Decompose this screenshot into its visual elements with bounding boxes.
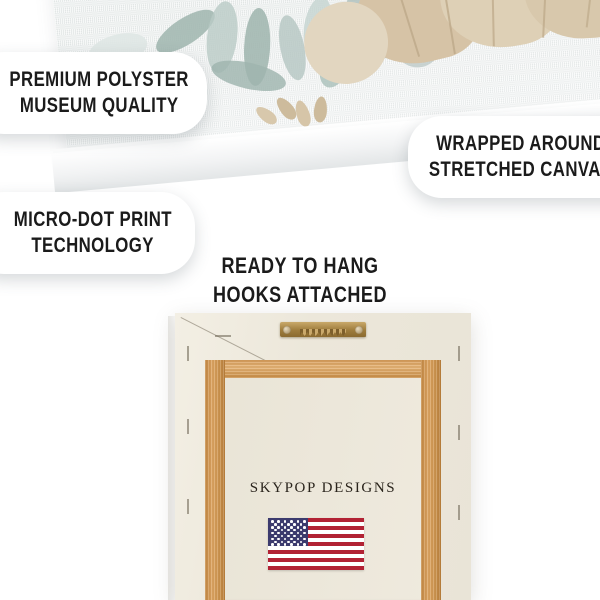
flag-star	[284, 538, 287, 541]
flag-star	[274, 523, 277, 526]
headline-line-1: READY TO HANG	[54, 252, 546, 281]
ready-to-hang-headline: READY TO HANG HOOKS ATTACHED	[0, 252, 600, 309]
badge-premium-polyster: PREMIUM POLYSTER MUSEUM QUALITY	[0, 52, 207, 134]
flag-star	[281, 523, 284, 526]
badge-wrapped-canvas: WRAPPED AROUND STRETCHED CANVAS	[408, 116, 600, 198]
flag-star	[271, 543, 274, 546]
flag-star	[290, 526, 293, 529]
hanger-screw	[283, 326, 291, 334]
stretcher-bar-top	[205, 360, 441, 378]
flag-star	[287, 529, 290, 532]
flag-star	[293, 529, 296, 532]
flag-star	[271, 520, 274, 523]
flag-star	[284, 526, 287, 529]
sawtooth-hanger-icon	[280, 322, 366, 337]
flag-star	[290, 543, 293, 546]
badge-line-2: STRETCHED CANVAS	[429, 157, 600, 183]
flag-star	[281, 535, 284, 538]
canvas-back-panel: SKYPOP DESIGNS	[175, 313, 471, 600]
staple-mark	[187, 346, 189, 361]
flag-star	[277, 520, 280, 523]
flag-star	[303, 538, 306, 541]
flag-star	[303, 543, 306, 546]
flag-star	[303, 520, 306, 523]
staple-mark	[458, 346, 460, 361]
usa-flag-icon	[268, 518, 364, 570]
flag-star	[290, 538, 293, 541]
flag-star	[281, 529, 284, 532]
flag-star	[271, 532, 274, 535]
flag-star	[300, 529, 303, 532]
badge-line-1: WRAPPED AROUND	[436, 131, 600, 157]
flag-star	[297, 543, 300, 546]
flag-star	[281, 541, 284, 544]
flag-star	[277, 532, 280, 535]
flag-star	[300, 541, 303, 544]
flag-star	[293, 523, 296, 526]
flag-star	[293, 541, 296, 544]
hanger-teeth	[300, 329, 346, 336]
flag-star	[271, 526, 274, 529]
flag-star	[303, 532, 306, 535]
flag-star	[287, 523, 290, 526]
flag-star	[297, 538, 300, 541]
flag-star	[284, 520, 287, 523]
flag-star	[277, 526, 280, 529]
flag-star	[284, 532, 287, 535]
flag-star	[287, 535, 290, 538]
staple-mark	[215, 335, 231, 337]
flag-star	[300, 523, 303, 526]
badge-line-1: MICRO-DOT PRINT	[13, 207, 171, 233]
staple-mark	[458, 425, 460, 440]
staple-mark	[458, 505, 460, 520]
flag-star	[293, 535, 296, 538]
flag-star	[303, 526, 306, 529]
flag-canton	[268, 518, 308, 546]
flag-star	[297, 532, 300, 535]
flag-star	[274, 541, 277, 544]
hanger-screw	[355, 326, 363, 334]
headline-line-2: HOOKS ATTACHED	[54, 281, 546, 310]
flag-star	[290, 532, 293, 535]
flag-star	[290, 520, 293, 523]
flag-stripe	[268, 566, 364, 570]
flag-star	[297, 526, 300, 529]
badge-line-2: MUSEUM QUALITY	[20, 93, 179, 119]
flag-star	[300, 535, 303, 538]
brand-name: SKYPOP DESIGNS	[175, 480, 471, 497]
flag-star	[297, 520, 300, 523]
staple-mark	[187, 419, 189, 434]
badge-line-1: PREMIUM POLYSTER	[10, 67, 189, 93]
flag-star	[274, 535, 277, 538]
staple-mark	[187, 499, 189, 514]
flag-star	[271, 538, 274, 541]
flag-star	[284, 543, 287, 546]
flag-star	[277, 543, 280, 546]
flag-star	[277, 538, 280, 541]
flag-star	[274, 529, 277, 532]
product-marketing-image: PREMIUM POLYSTER MUSEUM QUALITY WRAPPED …	[0, 0, 600, 600]
